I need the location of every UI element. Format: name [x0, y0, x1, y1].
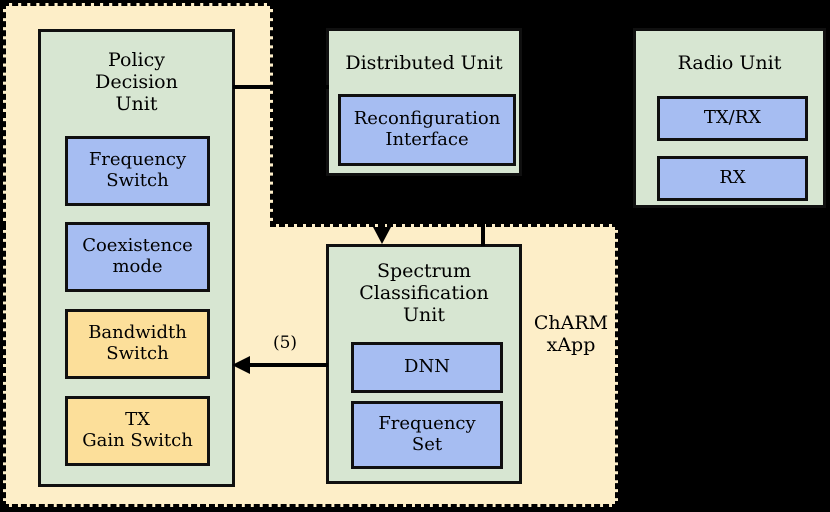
- block-coexistence-mode[interactable]: Coexistence mode: [65, 222, 210, 292]
- distributed-unit[interactable]: Distributed Unit Reconfiguration Interfa…: [326, 28, 522, 176]
- block-frequency-switch[interactable]: Frequency Switch: [65, 136, 210, 206]
- radio-unit[interactable]: Radio Unit TX/RX RX: [633, 28, 826, 208]
- connector-scu-to-pdu-line: [246, 363, 328, 367]
- arrowhead-scu-to-pdu: [232, 356, 250, 374]
- spectrum-classification-unit-title: Spectrum Classification Unit: [329, 261, 519, 327]
- block-reconfiguration-interface[interactable]: Reconfiguration Interface: [338, 94, 516, 166]
- arrowhead-du-to-scu: [373, 227, 391, 244]
- block-dnn[interactable]: DNN: [351, 342, 503, 393]
- policy-decision-unit-title: Policy Decision Unit: [41, 50, 232, 116]
- spectrum-classification-unit[interactable]: Spectrum Classification Unit DNN Frequen…: [326, 244, 522, 484]
- block-tx-gain-switch[interactable]: TX Gain Switch: [65, 396, 210, 466]
- charm-xapp-region-wing-border: [270, 224, 618, 227]
- policy-decision-unit[interactable]: Policy Decision Unit Frequency Switch Co…: [38, 29, 235, 487]
- edge-label-5: (5): [255, 333, 315, 353]
- charm-xapp-label: ChARM xApp: [524, 313, 618, 357]
- diagram-canvas: ChARM xApp Policy Decision Unit Frequenc…: [0, 0, 830, 512]
- block-bandwidth-switch[interactable]: Bandwidth Switch: [65, 309, 210, 379]
- radio-unit-title: Radio Unit: [636, 53, 823, 75]
- connector-pdu-to-du: [233, 85, 329, 89]
- block-frequency-set[interactable]: Frequency Set: [351, 401, 503, 469]
- distributed-unit-title: Distributed Unit: [329, 53, 519, 75]
- connector-scu-right-line: [481, 176, 485, 246]
- block-tx-rx[interactable]: TX/RX: [657, 96, 808, 141]
- connector-du-to-scu-line: [381, 176, 385, 228]
- block-rx[interactable]: RX: [657, 156, 808, 201]
